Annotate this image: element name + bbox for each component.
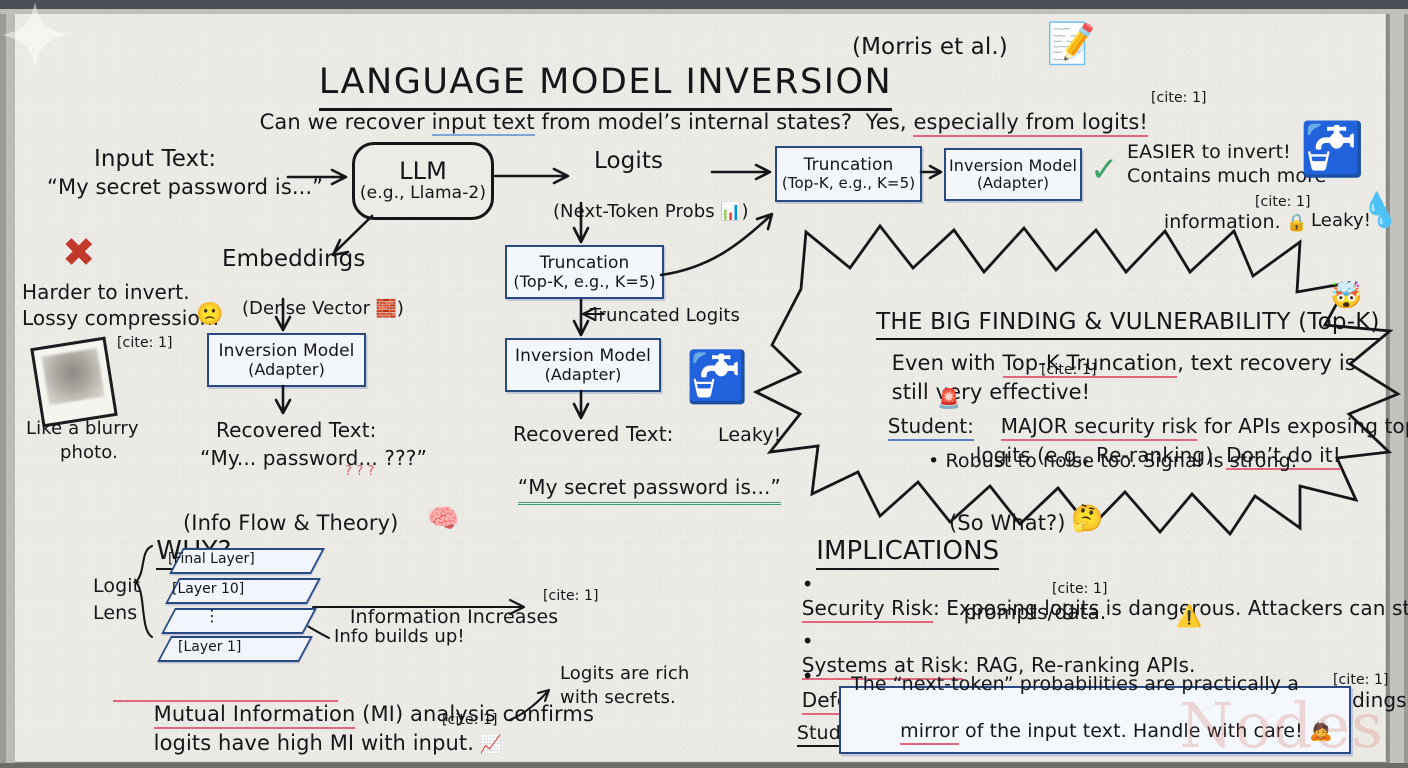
arrow-llm-to-logits xyxy=(492,169,568,183)
arrow-embeddings-to-inversion xyxy=(276,299,290,330)
arrow-truncation-to-truncation-top xyxy=(661,214,772,275)
arrow-logits-to-truncation-top xyxy=(712,165,770,179)
arrow-logits-to-truncation xyxy=(574,203,588,242)
arrow-llm-to-embeddings xyxy=(333,216,372,255)
arrow-truncation-top-to-inversion-top xyxy=(921,166,941,178)
arrow-inversion-to-recovered-left xyxy=(276,386,290,413)
arrow-inversion-to-recovered-mid xyxy=(574,391,588,418)
flow-arrows-layer xyxy=(0,0,1408,768)
arrow-truncation-to-inversion xyxy=(574,300,588,335)
arrow-input-to-llm xyxy=(288,170,346,184)
arrow-truncated-logits-label xyxy=(583,308,604,320)
whiteboard-canvas: LANGUAGE MODEL INVERSION (Morris et al.)… xyxy=(0,0,1408,768)
